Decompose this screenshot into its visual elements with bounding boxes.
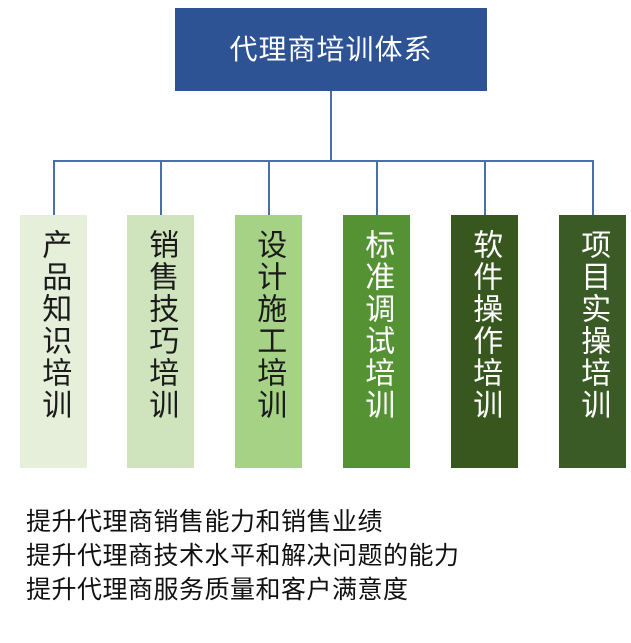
goals-list: 提升代理商销售能力和销售业绩 提升代理商技术水平和解决问题的能力 提升代理商服务…: [26, 505, 626, 607]
connector-horizontal-bus: [53, 160, 593, 162]
branch-node-standard-debugging[interactable]: 标准调试培训: [343, 215, 410, 468]
diagram-canvas: 代理商培训体系 产品知识培训 销售技巧培训 设计施工培训 标准调试培训 软件操作…: [0, 0, 631, 643]
branch-node-sales-skills[interactable]: 销售技巧培训: [127, 215, 194, 468]
branch-node-label: 产品知识培训: [37, 229, 71, 421]
branch-node-project-practice[interactable]: 项目实操培训: [559, 215, 626, 468]
branch-node-label: 软件操作培训: [468, 229, 502, 421]
branch-node-product-knowledge[interactable]: 产品知识培训: [20, 215, 87, 468]
connector-drop-5: [484, 160, 486, 215]
goal-line: 提升代理商销售能力和销售业绩: [26, 505, 626, 539]
branch-node-label: 销售技巧培训: [144, 229, 178, 421]
branch-node-label: 设计施工培训: [252, 229, 286, 421]
root-node-agent-training-system[interactable]: 代理商培训体系: [175, 8, 487, 91]
goal-line: 提升代理商技术水平和解决问题的能力: [26, 539, 626, 573]
branch-node-label: 项目实操培训: [576, 229, 610, 421]
connector-drop-6: [592, 160, 594, 215]
connector-drop-2: [160, 160, 162, 215]
branch-node-design-construction[interactable]: 设计施工培训: [235, 215, 302, 468]
goal-line: 提升代理商服务质量和客户满意度: [26, 573, 626, 607]
connector-drop-1: [53, 160, 55, 215]
connector-drop-3: [268, 160, 270, 215]
root-node-label: 代理商培训体系: [229, 36, 432, 64]
connector-drop-4: [376, 160, 378, 215]
branch-node-software-operation[interactable]: 软件操作培训: [451, 215, 518, 468]
branch-node-label: 标准调试培训: [360, 229, 394, 421]
connector-root-stem: [330, 91, 332, 161]
